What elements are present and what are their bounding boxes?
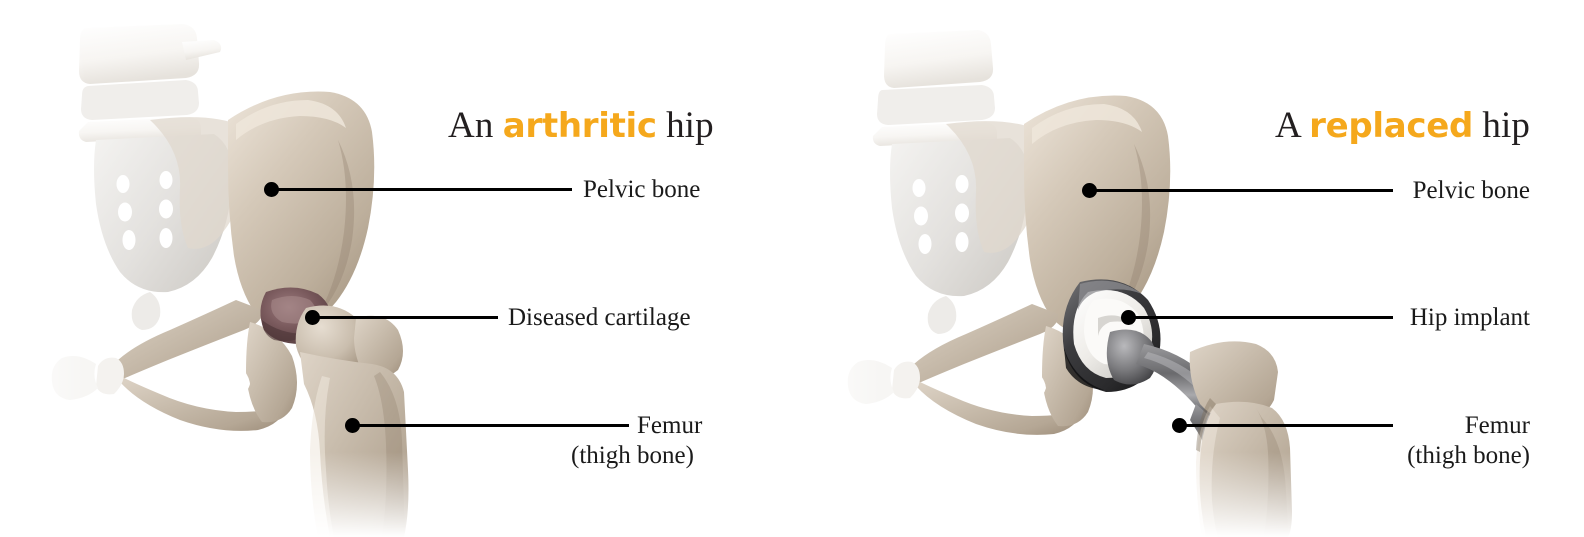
- leader-line-hip-implant: [1128, 316, 1393, 319]
- label-hip-implant: Hip implant: [1410, 303, 1530, 333]
- title-prefix: An: [448, 105, 503, 146]
- title-suffix: hip: [657, 105, 714, 146]
- label-text: Hip implant: [1410, 304, 1530, 331]
- leader-line-pelvic-bone: [271, 188, 572, 191]
- hip-comparison-illustration: An arthritic hip Pelvic bone Diseased ca…: [0, 0, 1584, 537]
- label-pelvic-bone: Pelvic bone: [583, 175, 700, 205]
- label-diseased-cartilage: Diseased cartilage: [508, 303, 691, 333]
- leader-line-diseased-cartilage: [312, 316, 498, 319]
- label-text: Pelvic bone: [1413, 177, 1530, 204]
- panel-title-replaced: A replaced hip: [1275, 104, 1530, 147]
- label-subtext: (thigh bone): [1407, 441, 1530, 471]
- title-prefix: A: [1275, 105, 1309, 146]
- panel-arthritic-hip: An arthritic hip Pelvic bone Diseased ca…: [0, 0, 792, 537]
- label-pelvic-bone: Pelvic bone: [1413, 176, 1530, 206]
- title-highlight: replaced: [1309, 106, 1473, 146]
- label-text: Diseased cartilage: [508, 304, 691, 331]
- panel-title-arthritic: An arthritic hip: [448, 104, 714, 147]
- title-suffix: hip: [1473, 105, 1530, 146]
- leader-line-femur: [1179, 424, 1393, 427]
- leader-line-femur: [352, 424, 629, 427]
- label-text: Pelvic bone: [583, 176, 700, 203]
- leader-line-pelvic-bone: [1089, 189, 1393, 192]
- label-text: Femur: [637, 412, 702, 439]
- label-femur: Femur(thigh bone): [1407, 411, 1530, 471]
- label-text: Femur: [1465, 412, 1530, 439]
- title-highlight: arthritic: [503, 106, 657, 146]
- panel-replaced-hip: A replaced hip Pelvic bone Hip implant F…: [792, 0, 1584, 537]
- label-femur: Femur(thigh bone): [637, 411, 702, 471]
- label-subtext: (thigh bone): [571, 441, 702, 471]
